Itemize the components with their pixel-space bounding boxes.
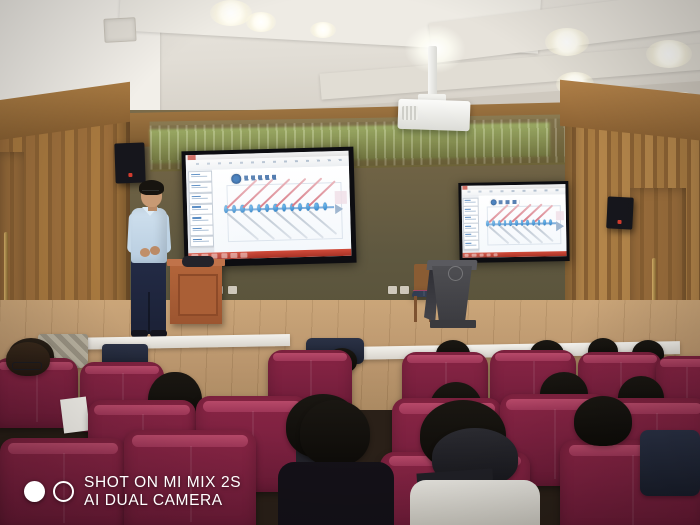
diagram-node bbox=[314, 203, 318, 211]
diagram-node bbox=[526, 220, 529, 226]
watermark-text: SHOT ON MI MIX 2S AI DUAL CAMERA bbox=[84, 474, 241, 509]
wall-outlet bbox=[400, 286, 409, 294]
diagram-node bbox=[543, 220, 546, 226]
diagram-node bbox=[549, 219, 552, 225]
diagram-arrow-icon bbox=[335, 204, 343, 214]
attendee-shoulders bbox=[410, 480, 540, 525]
wooden-podium bbox=[170, 264, 222, 324]
slide-canvas[interactable] bbox=[212, 165, 351, 252]
podium-panel bbox=[178, 274, 218, 316]
projector-vent bbox=[402, 106, 418, 120]
diagram-arrow-icon bbox=[556, 221, 564, 231]
attendee-black-cap bbox=[432, 428, 518, 486]
diagram-node bbox=[515, 220, 518, 226]
ring-circle-icon bbox=[53, 481, 74, 502]
camera-watermark: SHOT ON MI MIX 2S AI DUAL CAMERA bbox=[24, 474, 241, 509]
glasses-icon bbox=[142, 190, 159, 195]
ceiling-spotlight bbox=[545, 28, 589, 56]
lectern-emblem-icon bbox=[448, 266, 463, 281]
diagram-node bbox=[538, 220, 541, 226]
slide-title bbox=[498, 200, 519, 204]
slide-canvas[interactable] bbox=[478, 194, 566, 252]
presenter-leg-split bbox=[148, 292, 150, 334]
ceiling-spotlight bbox=[310, 22, 336, 38]
lecture-hall-photo: SHOT ON MI MIX 2S AI DUAL CAMERA bbox=[0, 0, 700, 525]
wall-outlet bbox=[388, 286, 397, 294]
notebook-paper bbox=[60, 397, 90, 434]
watermark-line-2: AI DUAL CAMERA bbox=[84, 492, 241, 509]
diagram-node bbox=[281, 204, 285, 212]
wall-outlet bbox=[228, 286, 237, 294]
attendee-shoulders bbox=[278, 462, 394, 525]
institution-logo-icon bbox=[231, 174, 241, 183]
wall-speaker-right bbox=[606, 196, 634, 229]
secondary-projection-screen bbox=[461, 184, 566, 258]
main-projection-screen bbox=[186, 151, 352, 261]
backpack bbox=[640, 430, 700, 496]
institution-logo-icon bbox=[490, 199, 496, 205]
diagram-node bbox=[504, 220, 507, 226]
slide-thumbnail[interactable] bbox=[190, 236, 214, 248]
slide-side-panel bbox=[335, 190, 348, 204]
wall-speaker-left bbox=[114, 142, 145, 183]
attendee-head bbox=[574, 396, 632, 446]
diagram-node bbox=[492, 220, 495, 226]
ceiling-spotlight bbox=[646, 40, 692, 68]
watermark-logo bbox=[24, 481, 74, 502]
podium-equipment bbox=[182, 256, 214, 267]
slide-side-panel bbox=[556, 211, 564, 220]
presenter-hand bbox=[150, 246, 160, 255]
lectern-base bbox=[430, 320, 476, 328]
attendee-glasses-notes bbox=[6, 342, 50, 376]
presenter-hand bbox=[140, 248, 150, 257]
ceiling-spotlight bbox=[246, 12, 276, 32]
speaker-led bbox=[128, 173, 132, 177]
glasses-icon bbox=[12, 362, 42, 370]
attendee-head bbox=[300, 400, 370, 466]
chair-leg bbox=[414, 296, 417, 322]
ceiling-vent bbox=[103, 17, 136, 43]
filled-circle-icon bbox=[24, 481, 45, 502]
door-handle-left[interactable] bbox=[4, 232, 8, 308]
watermark-line-1: SHOT ON MI MIX 2S bbox=[84, 474, 241, 491]
slide-thumbnail[interactable] bbox=[464, 240, 480, 250]
slide-thumbnail-panel[interactable] bbox=[186, 169, 215, 253]
speaker-led bbox=[617, 220, 621, 224]
